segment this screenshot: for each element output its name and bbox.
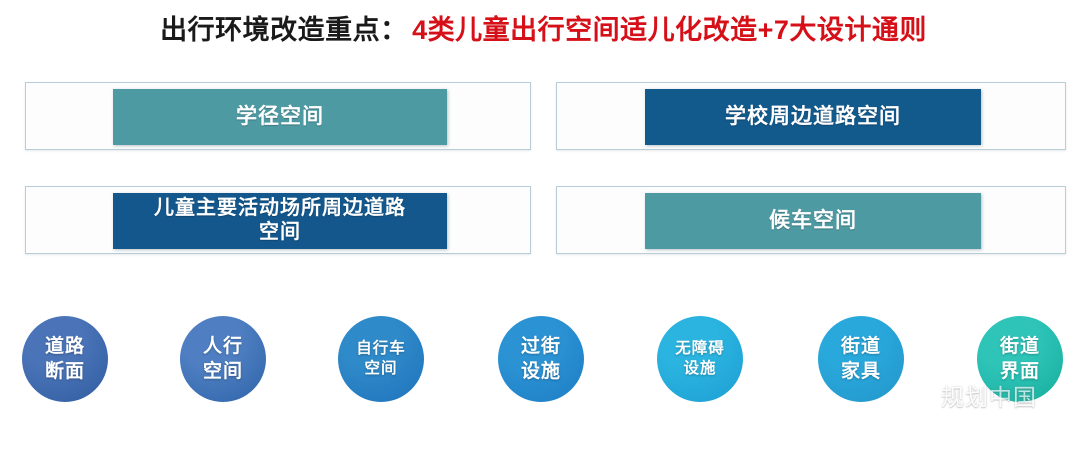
space-card-inner-waiting: 候车空间	[645, 193, 981, 249]
principle-circle-line1: 道路	[45, 334, 85, 359]
principle-circle-road-section[interactable]: 道路 断面	[22, 316, 108, 402]
space-card-waiting[interactable]: 候车空间	[556, 186, 1066, 254]
principle-circle-pedestrian-space[interactable]: 人行 空间	[180, 316, 266, 402]
space-card-row-1: 学径空间 学校周边道路空间	[0, 82, 1087, 150]
space-card-row-2: 儿童主要活动场所周边道路空间 候车空间	[0, 186, 1087, 254]
space-card-inner-xuejing: 学径空间	[113, 89, 447, 145]
principle-circle-line1: 自行车	[356, 339, 406, 359]
wechat-bubbles-icon	[898, 382, 934, 408]
principle-circle-line2: 空间	[364, 359, 397, 379]
page-title-prefix: 出行环境改造重点：	[160, 15, 408, 45]
principle-circle-street-furniture[interactable]: 街道 家具	[818, 316, 904, 402]
space-category-cards: 学径空间 学校周边道路空间 儿童主要活动场所周边道路空间 候车空间	[0, 82, 1087, 290]
space-card-school-road[interactable]: 学校周边道路空间	[556, 82, 1066, 150]
principle-circle-line2: 设施	[521, 359, 561, 384]
space-card-label: 学校周边道路空间	[719, 105, 907, 130]
space-card-activity-road[interactable]: 儿童主要活动场所周边道路空间	[25, 186, 531, 254]
principle-circle-bicycle-space[interactable]: 自行车 空间	[338, 316, 424, 402]
page-title-highlight: 4类儿童出行空间适儿化改造+7大设计通则	[412, 15, 927, 45]
principle-circle-line2: 空间	[203, 359, 243, 384]
space-card-label: 儿童主要活动场所周边道路空间	[148, 197, 412, 244]
watermark-text: 规划中国	[941, 378, 1037, 412]
principle-circle-accessibility[interactable]: 无障碍 设施	[657, 316, 743, 402]
principle-circle-line1: 人行	[203, 334, 243, 359]
principle-circle-line1: 无障碍	[675, 339, 725, 359]
space-card-label: 学径空间	[230, 105, 330, 130]
space-card-inner-activity-road: 儿童主要活动场所周边道路空间	[113, 193, 447, 249]
principle-circle-line1: 街道	[1000, 334, 1040, 359]
space-card-xuejing[interactable]: 学径空间	[25, 82, 531, 150]
principle-circle-line1: 街道	[841, 334, 881, 359]
space-card-label: 候车空间	[763, 209, 863, 234]
principle-circle-line2: 家具	[841, 359, 881, 384]
principle-circle-street-crossing[interactable]: 过街 设施	[498, 316, 584, 402]
watermark: 规划中国	[898, 378, 1037, 412]
principle-circle-line2: 设施	[683, 359, 716, 379]
page-title: 出行环境改造重点： 4类儿童出行空间适儿化改造+7大设计通则	[0, 8, 1087, 47]
space-card-inner-school-road: 学校周边道路空间	[645, 89, 981, 145]
principle-circle-line2: 断面	[45, 359, 85, 384]
principle-circle-line1: 过街	[521, 334, 561, 359]
